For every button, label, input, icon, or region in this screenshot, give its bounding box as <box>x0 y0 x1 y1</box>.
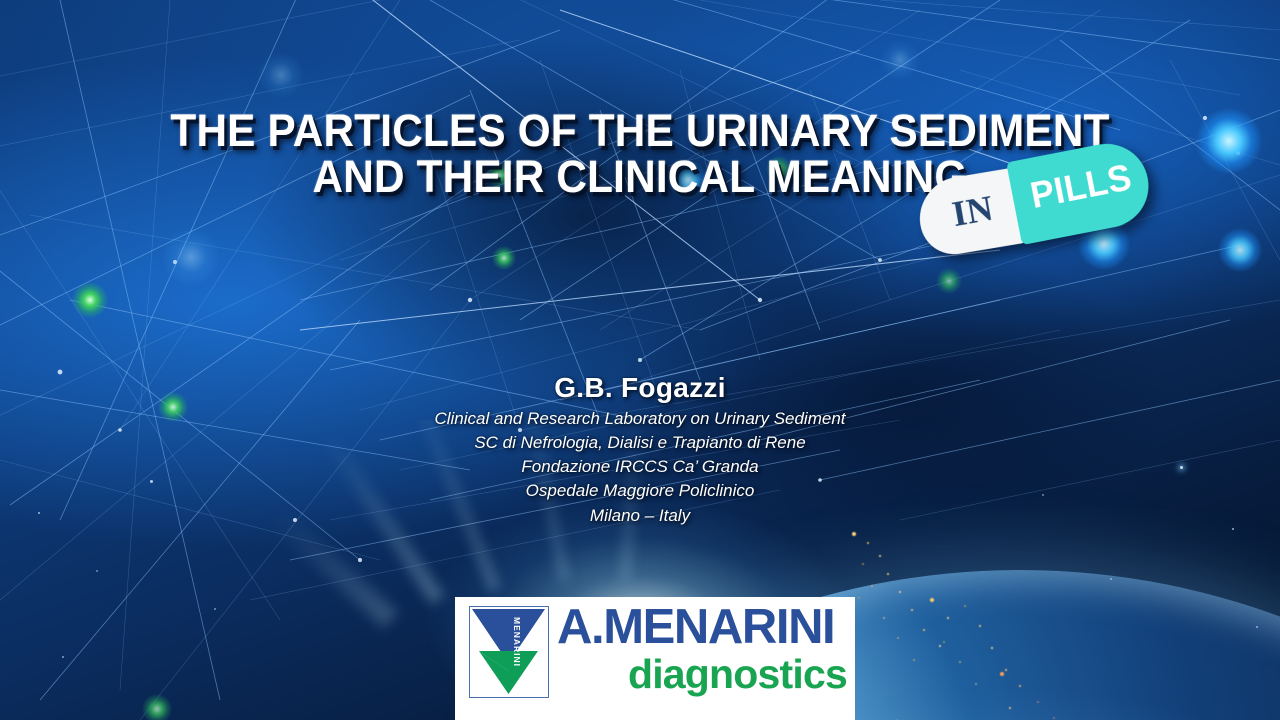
affiliation-line: SC di Nefrologia, Dialisi e Trapianto di… <box>0 431 1280 455</box>
city-lights <box>1000 672 1004 676</box>
star <box>214 608 216 610</box>
affiliation-line: Fondazione IRCCS Ca’ Granda <box>0 455 1280 479</box>
logo-division-name: diagnostics <box>557 654 851 695</box>
title-line-1: THE PARTICLES OF THE URINARY SEDIMENT <box>38 108 1241 154</box>
star <box>1110 578 1112 580</box>
affiliation-line: Ospedale Maggiore Policlinico <box>0 479 1280 503</box>
affiliation-line: Milano – Italy <box>0 504 1280 528</box>
menarini-diagnostics-logo: MENARINI A.MENARINI diagnostics <box>455 597 855 720</box>
author-block: G.B. Fogazzi Clinical and Research Labor… <box>0 372 1280 528</box>
star <box>62 656 64 658</box>
star <box>1232 528 1234 530</box>
star <box>96 570 98 572</box>
menarini-wordmark: A.MENARINI diagnostics <box>557 603 851 695</box>
menarini-vertical-text: MENARINI <box>512 617 522 667</box>
presentation-slide: THE PARTICLES OF THE URINARY SEDIMENT AN… <box>0 0 1280 720</box>
author-name: G.B. Fogazzi <box>0 372 1280 404</box>
menarini-logo-mark: MENARINI <box>469 606 549 698</box>
star <box>1256 626 1258 628</box>
menarini-m-symbol: MENARINI <box>470 607 547 696</box>
affiliation-line: Clinical and Research Laboratory on Urin… <box>0 407 1280 431</box>
logo-company-name: A.MENARINI <box>557 603 851 652</box>
